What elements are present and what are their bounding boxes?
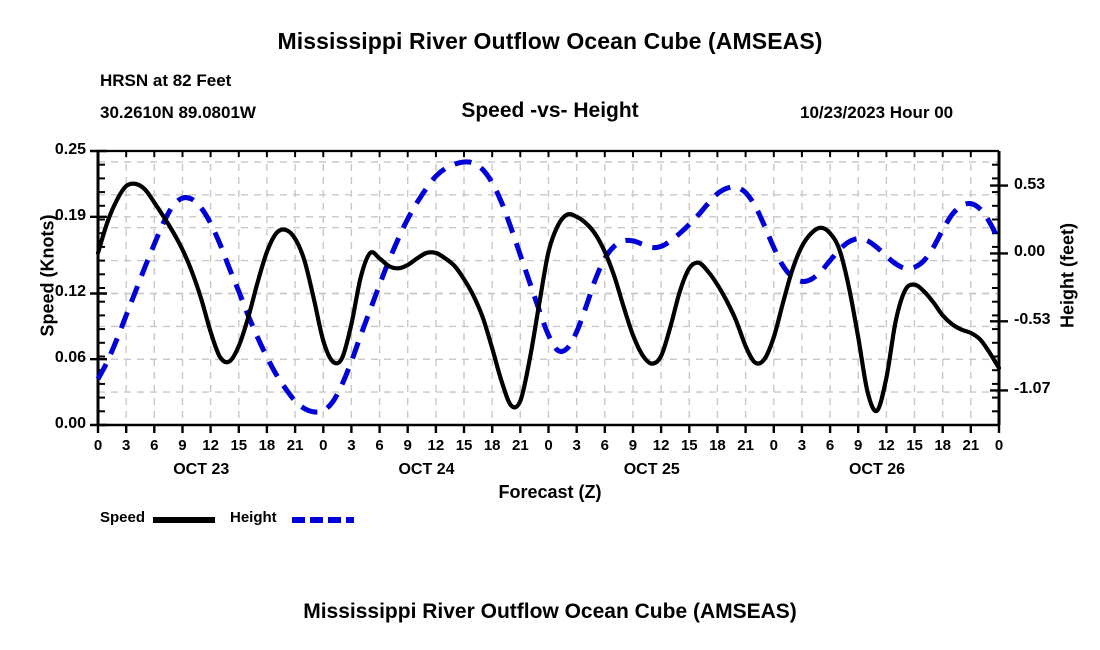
x-tick-label: 18: [930, 437, 956, 454]
y-tick-label-right: 0.53: [1014, 176, 1045, 194]
y-tick-label-right: 0.00: [1014, 243, 1045, 261]
y-tick-label-right: -1.07: [1014, 380, 1050, 398]
x-axis-day-label: OCT 26: [807, 461, 947, 479]
x-tick-label: 21: [733, 437, 759, 454]
x-tick-label: 15: [226, 437, 252, 454]
x-tick-label: 6: [592, 437, 618, 454]
x-tick-label: 9: [620, 437, 646, 454]
x-tick-label: 6: [367, 437, 393, 454]
y-tick-label-right: -0.53: [1014, 311, 1050, 329]
x-tick-label: 21: [507, 437, 533, 454]
x-tick-label: 3: [338, 437, 364, 454]
x-tick-label: 15: [902, 437, 928, 454]
x-tick-label: 12: [423, 437, 449, 454]
x-axis-day-label: OCT 24: [356, 461, 496, 479]
x-tick-label: 18: [479, 437, 505, 454]
x-tick-label: 6: [141, 437, 167, 454]
x-tick-label: 6: [817, 437, 843, 454]
x-tick-label: 3: [564, 437, 590, 454]
x-tick-label: 0: [85, 437, 111, 454]
legend-label: Speed: [100, 509, 145, 526]
x-tick-label: 15: [676, 437, 702, 454]
x-tick-label: 0: [761, 437, 787, 454]
x-tick-label: 9: [845, 437, 871, 454]
legend-label: Height: [230, 509, 277, 526]
x-axis-day-label: OCT 23: [131, 461, 271, 479]
x-tick-label: 21: [958, 437, 984, 454]
y-tick-label-left: 0.12: [28, 283, 86, 301]
x-tick-label: 0: [310, 437, 336, 454]
chart-canvas: Mississippi River Outflow Ocean Cube (AM…: [0, 0, 1100, 650]
x-axis-day-label: OCT 25: [582, 461, 722, 479]
x-tick-label: 12: [198, 437, 224, 454]
x-tick-label: 0: [536, 437, 562, 454]
legend-swatch-solid: [153, 517, 215, 523]
x-tick-label: 9: [395, 437, 421, 454]
x-tick-label: 18: [704, 437, 730, 454]
page-title-bottom: Mississippi River Outflow Ocean Cube (AM…: [0, 600, 1100, 624]
x-tick-label: 12: [648, 437, 674, 454]
x-tick-label: 18: [254, 437, 280, 454]
x-tick-label: 0: [986, 437, 1012, 454]
x-tick-label: 9: [169, 437, 195, 454]
legend-swatch-dashed: [292, 517, 354, 523]
y-tick-label-left: 0.25: [28, 141, 86, 159]
x-tick-label: 21: [282, 437, 308, 454]
y-tick-label-left: 0.06: [28, 349, 86, 367]
plot-area: [0, 0, 1100, 650]
y-tick-label-left: 0.00: [28, 415, 86, 433]
x-tick-label: 15: [451, 437, 477, 454]
x-tick-label: 3: [113, 437, 139, 454]
y-tick-label-left: 0.19: [28, 207, 86, 225]
x-tick-label: 12: [873, 437, 899, 454]
x-tick-label: 3: [789, 437, 815, 454]
